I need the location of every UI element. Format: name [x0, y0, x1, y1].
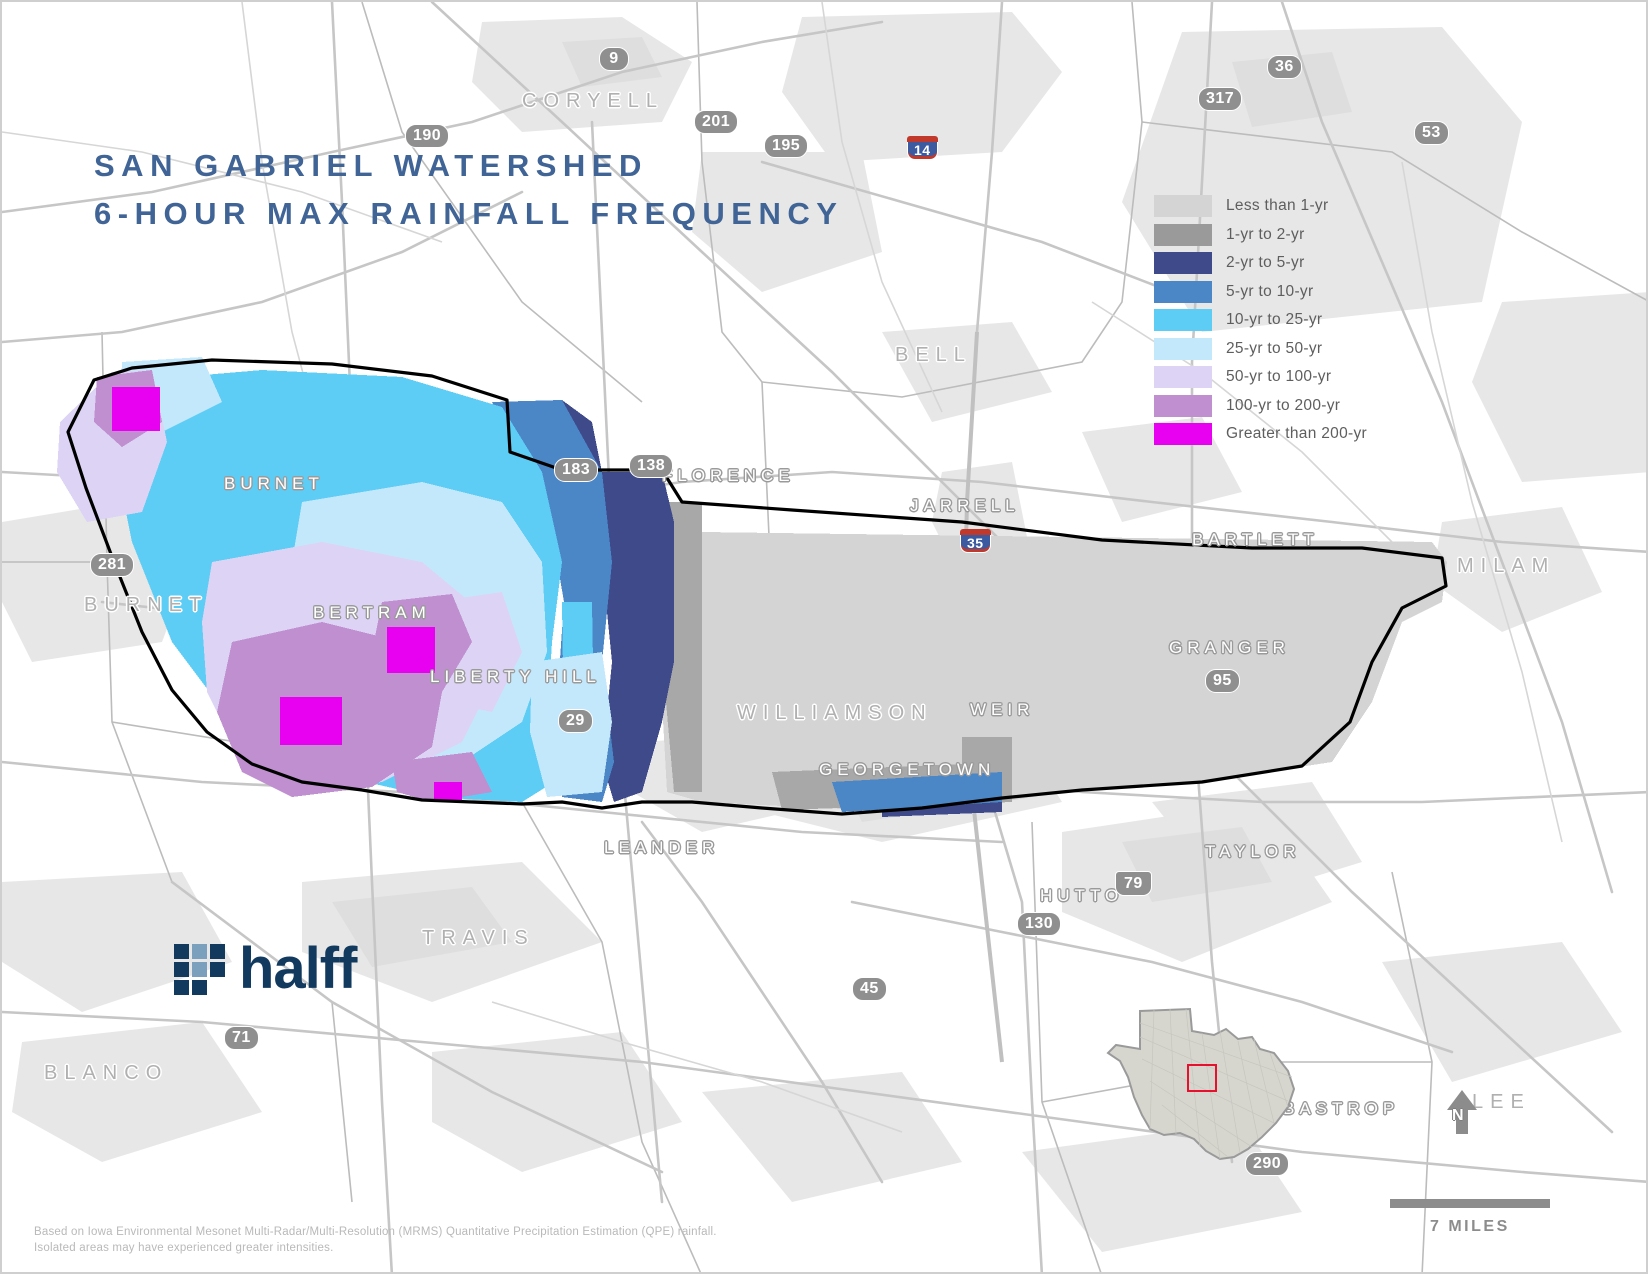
- highway-shield-45: 45: [852, 977, 887, 1001]
- highway-number: 195: [772, 137, 800, 155]
- highway-shield-71: 71: [224, 1026, 259, 1050]
- legend-swatch: [1154, 338, 1212, 360]
- highway-shield-29: 29: [558, 709, 593, 733]
- highway-shield-9: 9: [599, 47, 629, 71]
- highway-number: 201: [702, 113, 730, 131]
- north-arrow-label: N: [1452, 1107, 1464, 1125]
- halff-logo: halff: [174, 940, 356, 998]
- highway-shield-138: 138: [629, 454, 673, 478]
- highway-number: 29: [566, 712, 585, 730]
- highway-number: 14: [914, 142, 931, 158]
- county-label-bell: BELL: [895, 344, 972, 367]
- legend-item: 5-yr to 10-yr: [1154, 278, 1367, 307]
- county-label-williamson: WILLIAMSON: [737, 702, 933, 725]
- highway-number: 9: [609, 50, 618, 68]
- highway-shield-53: 53: [1414, 121, 1449, 145]
- legend-item: 10-yr to 25-yr: [1154, 306, 1367, 335]
- county-label-lee: LEE: [1472, 1091, 1531, 1114]
- highway-number: 35: [967, 535, 984, 551]
- scale-bar-label: 7 MILES: [1430, 1218, 1510, 1236]
- highway-shield-79: 79: [1115, 871, 1152, 896]
- source-footnote: Based on Iowa Environmental Mesonet Mult…: [34, 1224, 717, 1256]
- highway-number: 36: [1275, 58, 1294, 76]
- city-label-jarrell: JARRELL: [910, 496, 1020, 516]
- highway-number: 95: [1213, 672, 1232, 690]
- highway-number: 130: [1025, 915, 1053, 933]
- highway-shield-130: 130: [1017, 912, 1061, 936]
- highway-shield-201: 201: [694, 110, 738, 134]
- highway-number: 138: [637, 457, 665, 475]
- highway-number: 45: [860, 980, 879, 998]
- legend-label: 25-yr to 50-yr: [1226, 340, 1322, 358]
- map-page: SAN GABRIEL WATERSHED 6-HOUR MAX RAINFAL…: [0, 0, 1648, 1274]
- legend-item: Less than 1-yr: [1154, 192, 1367, 221]
- footnote-line-1: Based on Iowa Environmental Mesonet Mult…: [34, 1224, 717, 1240]
- legend-item: 2-yr to 5-yr: [1154, 249, 1367, 278]
- highway-shield-183: 183: [554, 458, 598, 482]
- legend-label: 50-yr to 100-yr: [1226, 368, 1331, 386]
- highway-number: 53: [1422, 124, 1441, 142]
- highway-number: 71: [232, 1029, 251, 1047]
- highway-number: 79: [1124, 875, 1143, 893]
- legend-label: 1-yr to 2-yr: [1226, 226, 1305, 244]
- legend-swatch: [1154, 366, 1212, 388]
- highway-number: 281: [98, 556, 126, 574]
- city-label-granger: GRANGER: [1169, 638, 1290, 658]
- legend-swatch: [1154, 281, 1212, 303]
- city-label-weir: WEIR: [970, 700, 1034, 720]
- legend-item: 1-yr to 2-yr: [1154, 221, 1367, 250]
- halff-wordmark: halff: [239, 940, 356, 998]
- city-label-georgetown: GEORGETOWN: [819, 760, 995, 780]
- highway-number: 190: [413, 127, 441, 145]
- highway-shield-281: 281: [90, 553, 134, 577]
- highway-shield-195: 195: [764, 134, 808, 158]
- legend-item: 25-yr to 50-yr: [1154, 335, 1367, 364]
- highway-shield-35: 35: [960, 529, 991, 553]
- county-label-travis: TRAVIS: [422, 927, 535, 950]
- legend-label: Less than 1-yr: [1226, 197, 1328, 215]
- highway-shield-95: 95: [1205, 669, 1240, 693]
- city-label-burnet: BURNET: [224, 474, 324, 494]
- county-label-milam: MILAM: [1457, 555, 1555, 578]
- legend-swatch: [1154, 195, 1212, 217]
- legend-swatch: [1154, 309, 1212, 331]
- texas-locator-box: [1187, 1064, 1217, 1092]
- city-label-taylor: TAYLOR: [1205, 842, 1301, 862]
- legend-swatch: [1154, 395, 1212, 417]
- legend-label: 10-yr to 25-yr: [1226, 311, 1322, 329]
- halff-logo-mark: [174, 944, 225, 995]
- title-line-1: SAN GABRIEL WATERSHED: [94, 142, 843, 190]
- highway-number: 183: [562, 461, 590, 479]
- footnote-line-2: Isolated areas may have experienced grea…: [34, 1240, 717, 1256]
- city-label-leander: LEANDER: [604, 838, 719, 858]
- highway-shield-317: 317: [1198, 87, 1242, 111]
- legend-label: Greater than 200-yr: [1226, 425, 1367, 443]
- legend-label: 2-yr to 5-yr: [1226, 254, 1305, 272]
- highway-number: 317: [1206, 90, 1234, 108]
- legend-label: 100-yr to 200-yr: [1226, 397, 1340, 415]
- county-label-blanco: BLANCO: [44, 1062, 168, 1085]
- highway-shield-14: 14: [907, 136, 938, 160]
- legend: Less than 1-yr1-yr to 2-yr2-yr to 5-yr5-…: [1154, 192, 1367, 449]
- scale-bar: [1390, 1199, 1550, 1208]
- legend-item: 100-yr to 200-yr: [1154, 392, 1367, 421]
- highway-shield-36: 36: [1267, 55, 1302, 79]
- title-line-2: 6-HOUR MAX RAINFALL FREQUENCY: [94, 190, 843, 238]
- legend-swatch: [1154, 423, 1212, 445]
- map-title: SAN GABRIEL WATERSHED 6-HOUR MAX RAINFAL…: [94, 142, 843, 238]
- city-label-hutto: HUTTO: [1040, 886, 1123, 906]
- city-label-liberty-hill: LIBERTY HILL: [430, 667, 601, 687]
- legend-swatch: [1154, 252, 1212, 274]
- legend-label: 5-yr to 10-yr: [1226, 283, 1313, 301]
- highway-shield-190: 190: [405, 124, 449, 148]
- legend-item: 50-yr to 100-yr: [1154, 363, 1367, 392]
- city-label-florence: FLORENCE: [662, 466, 795, 486]
- county-label-coryell: CORYELL: [522, 90, 664, 113]
- legend-swatch: [1154, 224, 1212, 246]
- legend-item: Greater than 200-yr: [1154, 420, 1367, 449]
- city-label-bartlett: BARTLETT: [1192, 530, 1319, 550]
- city-label-bertram: BERTRAM: [313, 603, 431, 623]
- county-label-burnet: BURNET: [84, 594, 208, 617]
